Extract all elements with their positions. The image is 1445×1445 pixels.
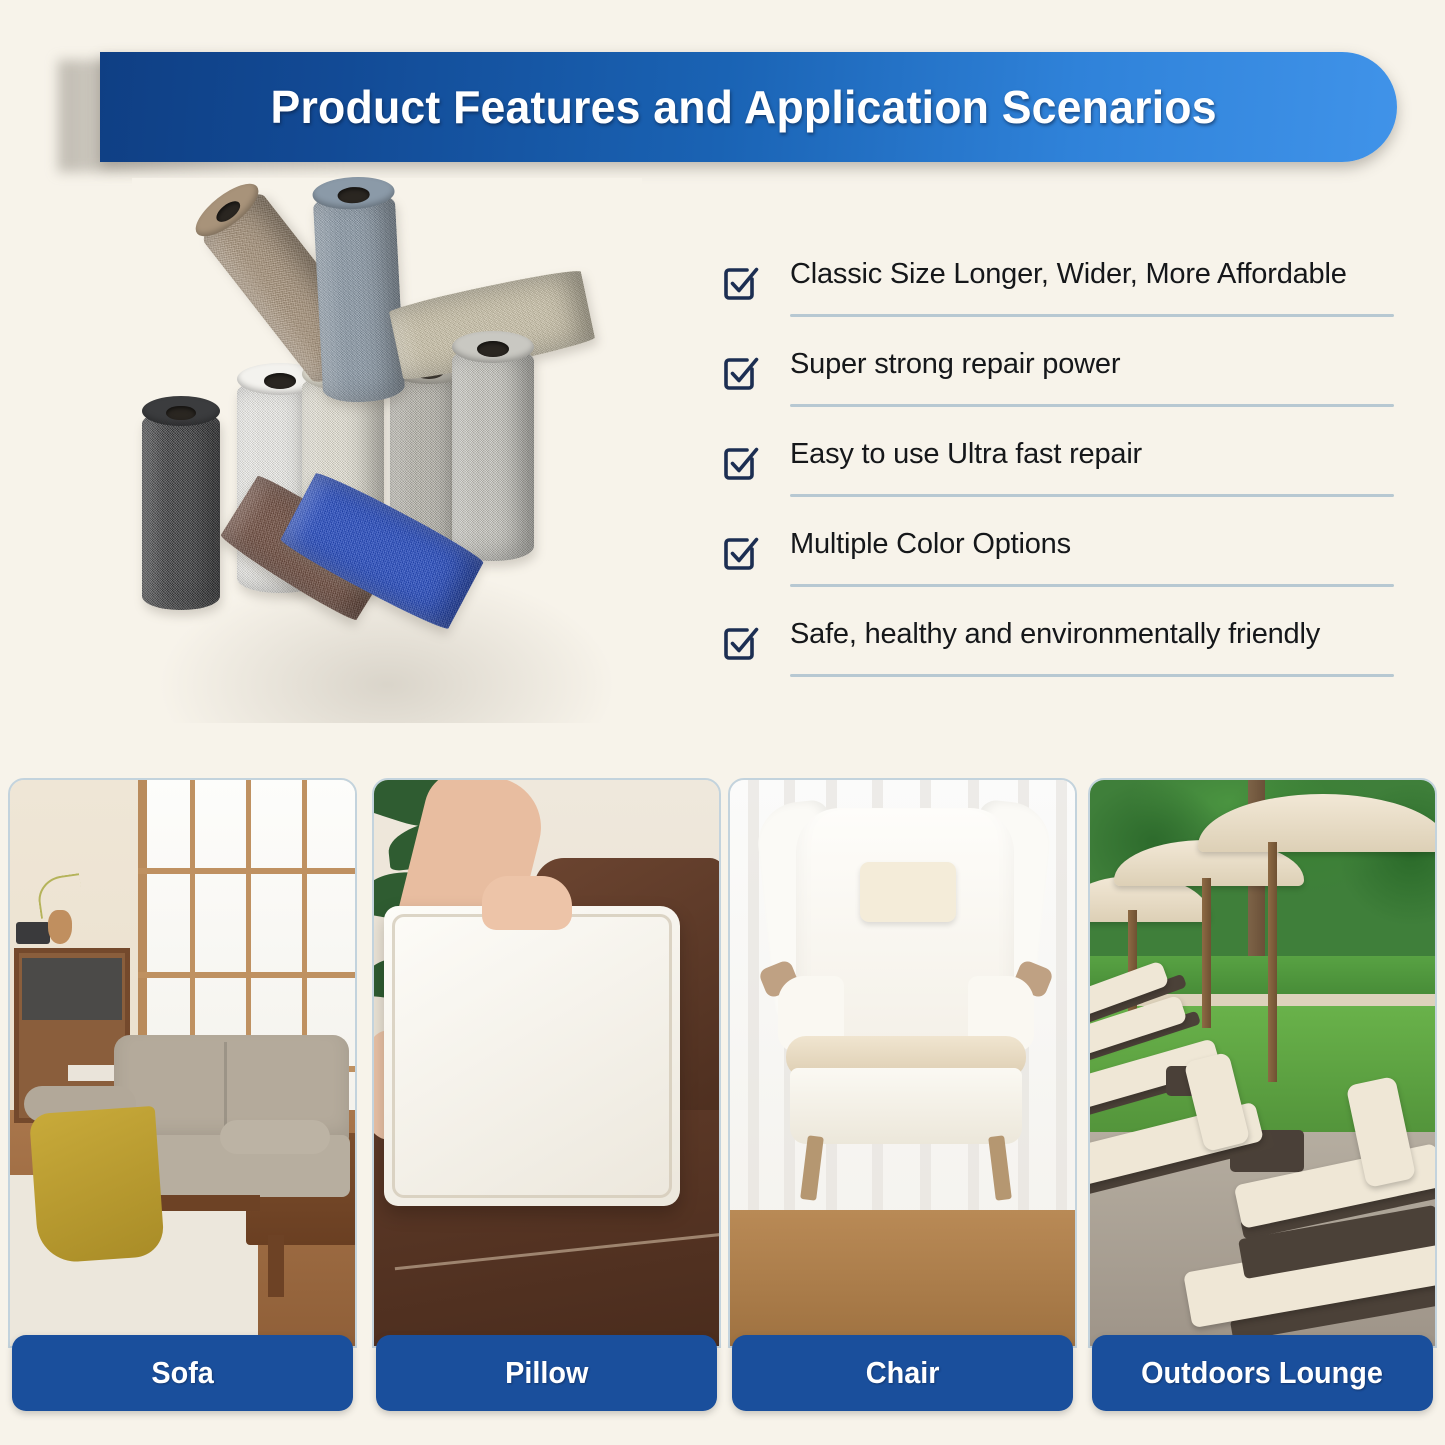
checkbox-checked-icon <box>718 351 762 395</box>
feature-item: Multiple Color Options <box>718 522 1398 612</box>
feature-label: Multiple Color Options <box>790 528 1071 561</box>
tape-roll <box>452 346 534 561</box>
feature-item: Safe, healthy and environmentally friend… <box>718 612 1398 702</box>
scenario-card-outdoors-lounge[interactable]: Outdoors Lounge <box>1088 778 1437 1410</box>
feature-label: Classic Size Longer, Wider, More Afforda… <box>790 258 1347 291</box>
feature-item: Classic Size Longer, Wider, More Afforda… <box>718 252 1398 342</box>
scenario-caption-chair: Chair <box>732 1335 1073 1411</box>
feature-list: Classic Size Longer, Wider, More Afforda… <box>718 252 1398 702</box>
scenario-image-chair <box>728 778 1077 1348</box>
feature-label: Safe, healthy and environmentally friend… <box>790 618 1320 651</box>
checkbox-checked-icon <box>718 621 762 665</box>
banner-body: Product Features and Application Scenari… <box>100 52 1397 162</box>
feature-item: Super strong repair power <box>718 342 1398 432</box>
feature-label: Super strong repair power <box>790 348 1120 381</box>
feature-divider <box>790 584 1394 587</box>
checkbox-checked-icon <box>718 531 762 575</box>
scenario-card-pillow[interactable]: Pillow <box>372 778 721 1410</box>
scenario-card-sofa[interactable]: Sofa <box>8 778 357 1410</box>
scenario-image-pillow <box>372 778 721 1348</box>
lounge-scene <box>1090 780 1435 1346</box>
chair-scene <box>730 780 1075 1346</box>
scenario-image-sofa <box>8 778 357 1348</box>
tape-roll <box>313 190 406 404</box>
header-banner: Product Features and Application Scenari… <box>100 52 1397 162</box>
tape-roll <box>142 410 220 610</box>
scenario-image-outdoors-lounge <box>1088 778 1437 1348</box>
scenario-caption-label: Chair <box>866 1355 940 1391</box>
feature-divider <box>790 674 1394 677</box>
feature-item: Easy to use Ultra fast repair <box>718 432 1398 522</box>
scenario-caption-outdoors-lounge: Outdoors Lounge <box>1092 1335 1433 1411</box>
product-image-tape-rolls <box>132 178 642 723</box>
feature-divider <box>790 494 1394 497</box>
scenario-caption-label: Pillow <box>505 1355 588 1391</box>
pillow-scene <box>374 780 719 1346</box>
checkbox-checked-icon <box>718 441 762 485</box>
scenario-caption-label: Sofa <box>151 1355 213 1391</box>
feature-label: Easy to use Ultra fast repair <box>790 438 1142 471</box>
feature-divider <box>790 404 1394 407</box>
scenario-card-row: Sofa Pillow <box>0 778 1445 1418</box>
feature-divider <box>790 314 1394 317</box>
scenario-card-chair[interactable]: Chair <box>728 778 1077 1410</box>
scenario-caption-sofa: Sofa <box>12 1335 353 1411</box>
scenario-caption-pillow: Pillow <box>376 1335 717 1411</box>
page-title: Product Features and Application Scenari… <box>119 80 1377 134</box>
scenario-caption-label: Outdoors Lounge <box>1142 1355 1384 1391</box>
checkbox-checked-icon <box>718 261 762 305</box>
sofa-scene <box>10 780 355 1346</box>
